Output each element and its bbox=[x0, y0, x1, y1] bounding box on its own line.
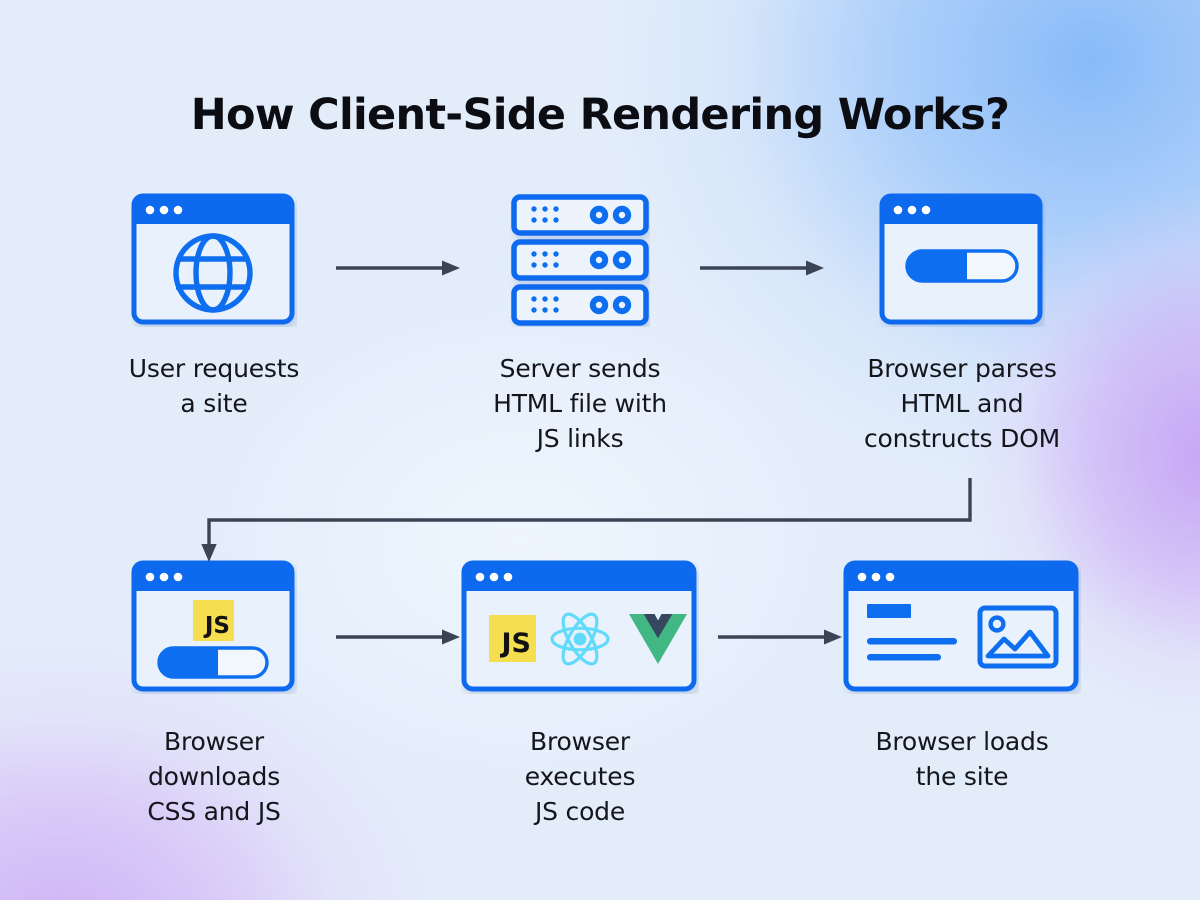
infographic-canvas: How Client-Side Rendering Works? bbox=[0, 0, 1200, 900]
page-title: How Client-Side Rendering Works? bbox=[0, 90, 1200, 140]
step-caption: User requests a site bbox=[54, 351, 374, 421]
browser-window-progress-icon bbox=[802, 185, 1122, 335]
js-logo: JS bbox=[489, 615, 536, 662]
svg-text:JS: JS bbox=[203, 613, 230, 639]
step-caption: Browser downloads CSS and JS bbox=[54, 724, 374, 829]
step-user-requests-site: User requests a site bbox=[54, 185, 374, 421]
js-logo: JS bbox=[193, 600, 234, 641]
step-browser-parses-html: Browser parses HTML and constructs DOM bbox=[802, 185, 1122, 456]
step-caption: Browser executes JS code bbox=[420, 724, 740, 829]
step-browser-loads-site: Browser loads the site bbox=[802, 552, 1122, 794]
progress-bar bbox=[159, 648, 267, 677]
step-browser-executes-js: JS Browser executes JS code bbox=[420, 552, 740, 829]
browser-window-frameworks-icon: JS bbox=[420, 552, 740, 702]
server-rack-icon bbox=[420, 185, 740, 335]
progress-bar bbox=[907, 251, 1017, 281]
browser-window-js-download-icon: JS bbox=[54, 552, 374, 702]
step-server-sends-html: Server sends HTML file with JS links bbox=[420, 185, 740, 456]
browser-window-rendered-page-icon bbox=[802, 552, 1122, 702]
step-caption: Server sends HTML file with JS links bbox=[420, 351, 740, 456]
step-caption: Browser loads the site bbox=[802, 724, 1122, 794]
svg-text:JS: JS bbox=[500, 628, 532, 659]
browser-window-globe-icon bbox=[54, 185, 374, 335]
step-caption: Browser parses HTML and constructs DOM bbox=[802, 351, 1122, 456]
step-browser-downloads-assets: JS Browser downloads CSS and JS bbox=[54, 552, 374, 829]
